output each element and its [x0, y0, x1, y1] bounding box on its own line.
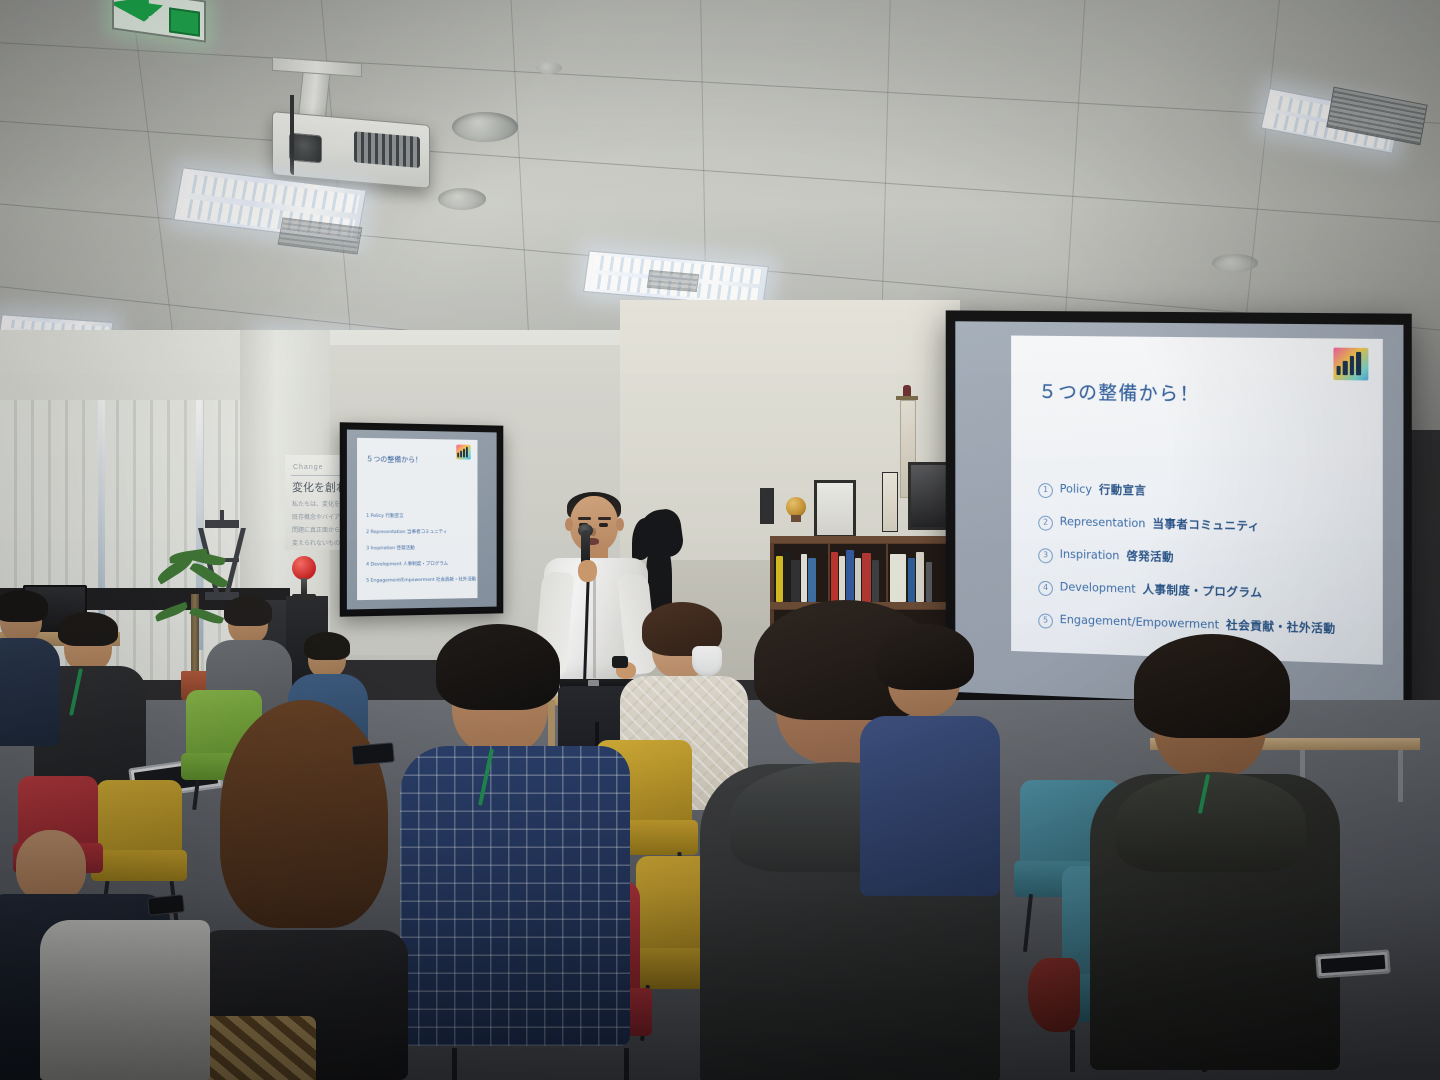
- secondary-slide-item: 4 Development 人事制度・プログラム: [366, 561, 448, 568]
- smoke-detector: [536, 62, 562, 74]
- smartphone[interactable]: [147, 894, 185, 916]
- attendee-head: [16, 830, 86, 902]
- attendee-hair: [876, 624, 974, 690]
- list-item-english: Development: [1060, 579, 1136, 595]
- book: [908, 558, 915, 602]
- attendee-hair: [1134, 634, 1290, 738]
- secondary-slide: ５つの整備から！ 1 Policy 行動宣言 2: [357, 438, 477, 600]
- projector-cable: [290, 95, 294, 175]
- logo-bars: [457, 446, 469, 457]
- list-item-english: Engagement/Empowerment: [1060, 612, 1219, 631]
- attendee: [400, 636, 630, 1056]
- slide-title: ５つの整備から！: [1038, 377, 1200, 406]
- red-punching-balloon: [292, 556, 316, 580]
- attendee-plaid-shirt: [400, 746, 630, 1046]
- list-item-japanese: 人事制度・プログラム: [1143, 581, 1263, 601]
- presenter-ear: [565, 518, 573, 531]
- slide-list-item: 2 Representation 当事者コミュニティ: [1038, 513, 1368, 540]
- slide-list-item: 3 Inspiration 啓発活動: [1038, 545, 1368, 572]
- book: [862, 553, 871, 602]
- attendee: [0, 596, 60, 746]
- item-en: Engagement/Empowerment: [371, 578, 435, 584]
- list-item-japanese: 行動宣言: [1099, 481, 1146, 498]
- attendee-shirt: [0, 638, 60, 746]
- hoodie-hood: [1116, 772, 1306, 872]
- presenter-eyebrow: [578, 517, 591, 520]
- item-jp: 社会貢献・社外活動: [436, 577, 476, 583]
- presentation-clicker: [612, 656, 628, 668]
- tall-award-plaque: [882, 472, 898, 532]
- secondary-slide-item: 5 Engagement/Empowerment 社会貢献・社外活動: [366, 576, 476, 583]
- ceiling-round-vent: [438, 188, 486, 210]
- logo-bar: [463, 448, 465, 457]
- list-item-number: 4: [1038, 581, 1053, 596]
- laptop-device: [1315, 949, 1390, 978]
- smartphone[interactable]: [351, 742, 395, 766]
- ceiling-round-vent: [452, 112, 518, 142]
- attendee-hair: [436, 624, 560, 710]
- attendee-hair: [0, 590, 48, 622]
- list-item-english: Representation: [1060, 514, 1146, 530]
- red-shoe: [1028, 958, 1080, 1032]
- small-frame: [760, 488, 774, 524]
- plant-frond: [154, 602, 189, 622]
- item-number: 3: [366, 546, 369, 551]
- attendee: [190, 716, 410, 1080]
- list-item-number: 3: [1038, 548, 1053, 563]
- logo-bar: [1350, 356, 1355, 375]
- shelf-cell: [888, 544, 946, 602]
- item-number: 4: [366, 563, 369, 568]
- logo-bar: [460, 450, 462, 457]
- slide-bullet-list: 1 Policy 行動宣言 2 Representation 当事者コミュニティ…: [1038, 480, 1368, 655]
- logo-bar: [1356, 352, 1361, 375]
- item-en: Representation: [371, 530, 406, 535]
- attendee-hair: [220, 700, 388, 928]
- logo-bar: [1336, 366, 1341, 375]
- secondary-slide-title: ５つの整備から！: [366, 454, 422, 465]
- item-number: 5: [366, 579, 369, 584]
- item-en: Development: [371, 562, 402, 567]
- attendee-trousers: [40, 920, 210, 1080]
- list-item-number: 1: [1038, 483, 1053, 498]
- logo-bar: [457, 453, 459, 457]
- book: [791, 560, 800, 602]
- attendee-bag: [196, 1016, 316, 1080]
- list-item-number: 5: [1038, 613, 1053, 628]
- chair-leg: [1070, 1030, 1075, 1072]
- book: [872, 560, 879, 602]
- globe-base: [791, 515, 801, 522]
- list-item-number: 2: [1038, 516, 1053, 531]
- attendee-top: [860, 716, 1000, 896]
- book: [926, 562, 932, 602]
- desk-globe: [786, 497, 806, 517]
- bar-chart-logo-icon: [456, 445, 471, 460]
- book: [855, 558, 861, 602]
- item-number: 2: [366, 530, 369, 535]
- book: [839, 556, 845, 602]
- item-jp: 人事制度・プログラム: [403, 562, 448, 567]
- ceiling-round-vent: [1212, 254, 1258, 272]
- logo-bar: [1343, 361, 1348, 375]
- attendee-hair: [58, 612, 118, 646]
- book: [890, 554, 906, 602]
- item-en: Inspiration: [371, 546, 395, 551]
- slide-list-item: 1 Policy 行動宣言: [1038, 480, 1368, 506]
- book: [846, 550, 854, 602]
- list-item-english: Policy: [1060, 481, 1092, 496]
- presentation-room-photo: Change 変化を創れ 私たちは、変化を恐 既存概念やバイアスに 問題に真正面…: [0, 0, 1440, 1080]
- item-number: 1: [366, 514, 369, 519]
- book: [801, 554, 807, 602]
- list-item-japanese: 当事者コミュニティ: [1152, 515, 1259, 534]
- attendee: [860, 636, 1000, 896]
- secondary-projection-screen: ５つの整備から！ 1 Policy 行動宣言 2: [340, 422, 504, 617]
- framed-certificate: [814, 480, 856, 538]
- secondary-screen-surface: ５つの整備から！ 1 Policy 行動宣言 2: [347, 430, 497, 610]
- primary-slide: ５つの整備から！ 1 Policy 行動宣言 2 Representation …: [1011, 335, 1383, 664]
- book: [808, 558, 816, 602]
- book: [916, 552, 924, 602]
- secondary-slide-item: 1 Policy 行動宣言: [366, 513, 404, 519]
- table-leg: [1398, 750, 1403, 802]
- item-en: Policy: [371, 514, 384, 519]
- book: [831, 552, 838, 602]
- attendee-hair: [304, 632, 350, 660]
- punching-balloon-base: [292, 594, 316, 600]
- wall-poster-line: 私たちは、変化を恐: [292, 499, 346, 508]
- book: [776, 556, 783, 602]
- ceiling-projector: [272, 111, 430, 189]
- secondary-slide-item: 3 Inspiration 啓発活動: [366, 545, 415, 551]
- presenter-eye: [599, 523, 608, 527]
- item-jp: 当事者コミュニティ: [407, 530, 447, 535]
- list-item-english: Inspiration: [1060, 547, 1120, 563]
- list-item-japanese: 啓発活動: [1126, 548, 1174, 565]
- wall-poster-kicker: Change: [293, 464, 324, 471]
- item-jp: 行動宣言: [385, 514, 403, 519]
- attendee-hair: [224, 596, 272, 626]
- logo-bars: [1336, 352, 1364, 376]
- presenter-hand-holding-mic: [578, 560, 597, 582]
- attendee: [1090, 646, 1340, 1066]
- presenter-ear: [616, 518, 624, 531]
- wall-poster-headline: 変化を創れ: [292, 479, 347, 495]
- laptop-screen: [1321, 955, 1386, 973]
- item-jp: 啓発活動: [396, 546, 414, 551]
- bar-chart-logo-icon: [1333, 348, 1368, 381]
- presenter-eyebrow: [598, 517, 611, 520]
- secondary-slide-item: 2 Representation 当事者コミュニティ: [366, 529, 447, 535]
- shelf-board: [770, 536, 950, 543]
- list-item-japanese: 社会貢献・社外活動: [1226, 617, 1336, 637]
- eiffel-spire: [220, 510, 224, 528]
- projector-vent: [354, 132, 420, 169]
- shelf-cell: [774, 544, 828, 602]
- exit-running-man-icon: [169, 8, 200, 37]
- book: [784, 552, 790, 602]
- attendee: [40, 920, 210, 1080]
- shelf-cell: [830, 544, 886, 602]
- logo-bar: [466, 447, 468, 458]
- slide-list-item: 4 Development 人事制度・プログラム: [1038, 578, 1368, 606]
